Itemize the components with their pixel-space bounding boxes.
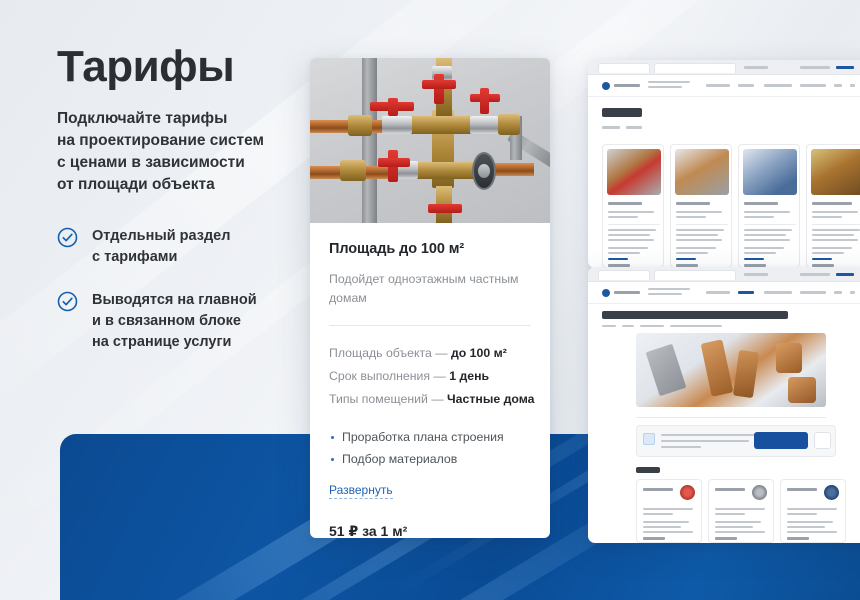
site-header [588, 282, 860, 304]
card-spec [744, 234, 786, 236]
spec-dash: — [431, 392, 443, 406]
card-desc [812, 216, 842, 218]
nav-item[interactable] [706, 291, 730, 294]
card-title [643, 488, 673, 491]
divider [812, 224, 860, 225]
card-image [607, 149, 661, 195]
card-bullet [608, 247, 648, 249]
tariff-card-body: Площадь до 100 м² Подойдет одноэтажным ч… [310, 223, 550, 538]
slide-canvas: Тарифы Подключайте тарифы на проектирова… [0, 0, 860, 600]
document-icon [643, 433, 655, 445]
mockup-tariff-card[interactable] [738, 144, 800, 268]
spec-row: Площадь объекта — до 100 м² [329, 342, 531, 365]
tariffs-section-title [636, 467, 660, 473]
order-text [661, 434, 757, 436]
card-spec [676, 239, 722, 241]
site-logo-icon[interactable] [602, 82, 610, 90]
feature-line: и в связанном блоке [92, 311, 257, 332]
card-desc [715, 508, 765, 510]
card-spec [744, 229, 792, 231]
tariff-card-description: Подойдет одноэтажным частным домам [329, 270, 531, 308]
breadcrumb[interactable] [602, 126, 620, 129]
spec-label: Типы помещений [329, 392, 428, 406]
tariff-price: 51 ₽ за 1 м² [329, 523, 531, 538]
spec-dash: — [434, 369, 446, 383]
card-spec [812, 229, 860, 231]
card-bullet [676, 252, 708, 254]
site-tagline [648, 293, 682, 295]
card-title [715, 488, 745, 491]
card-title [787, 488, 817, 491]
card-image [675, 149, 729, 195]
feature-line: Выводятся на главной [92, 290, 257, 311]
site-tagline [648, 288, 690, 290]
site-logo-text [614, 84, 640, 87]
subtitle-line: с ценами в зависимости [57, 152, 307, 174]
card-expand-link[interactable] [812, 258, 832, 260]
feature-item: Выводятся на главной и в связанном блоке… [57, 290, 307, 353]
expand-link[interactable]: Развернуть [329, 483, 393, 499]
divider [676, 224, 728, 225]
breadcrumb[interactable] [602, 325, 616, 327]
spec-label: Площадь объекта [329, 346, 432, 360]
nav-item-active[interactable] [738, 291, 754, 294]
card-spec [608, 239, 654, 241]
mockup-page-title [602, 311, 788, 319]
favorite-button[interactable] [814, 432, 831, 449]
tariff-card-photo [310, 58, 550, 223]
feature-item: Отдельный раздел с тарифами [57, 226, 307, 268]
card-bullet [715, 526, 753, 528]
card-desc [744, 216, 774, 218]
card-bullet [676, 247, 716, 249]
nav-item[interactable] [738, 84, 754, 87]
card-bullet [643, 531, 693, 533]
list-item: Подбор материалов [329, 449, 531, 471]
browser-tab[interactable] [598, 270, 650, 280]
browser-tab-bar [588, 267, 860, 282]
card-spec [676, 229, 724, 231]
tariff-specs: Площадь объекта — до 100 м² Срок выполне… [329, 342, 531, 410]
browser-action[interactable] [836, 66, 854, 69]
spec-row: Срок выполнения — 1 день [329, 365, 531, 388]
mockup-service-page[interactable] [588, 267, 860, 543]
check-circle-icon [57, 291, 78, 317]
nav-item[interactable] [764, 291, 792, 294]
card-spec [812, 234, 854, 236]
feature-line: Отдельный раздел [92, 226, 230, 247]
site-header [588, 75, 860, 97]
mockup-tariff-card[interactable] [806, 144, 860, 268]
check-circle-icon [57, 227, 78, 253]
nav-item[interactable] [800, 291, 826, 294]
mockup-tariff-card[interactable] [636, 479, 702, 543]
mockup-tariff-card[interactable] [708, 479, 774, 543]
address-bar [800, 66, 830, 69]
card-bullet [744, 252, 776, 254]
browser-controls [744, 273, 768, 276]
subtitle-line: от площади объекта [57, 174, 307, 196]
card-bullet [643, 526, 681, 528]
card-desc [787, 513, 817, 515]
divider [329, 325, 531, 326]
spec-value: 1 день [449, 369, 489, 383]
nav-item[interactable] [764, 84, 792, 87]
card-desc [787, 508, 837, 510]
card-bullet [787, 526, 825, 528]
mockup-tariff-card[interactable] [602, 144, 664, 268]
page-title: Тарифы [57, 44, 307, 90]
browser-tab[interactable] [654, 270, 736, 280]
search-icon[interactable] [850, 291, 855, 294]
divider [608, 224, 660, 225]
mockup-tariffs-catalog[interactable] [588, 60, 860, 268]
card-spec [812, 239, 858, 241]
card-title [744, 202, 778, 205]
card-price [715, 537, 737, 540]
browser-controls [744, 66, 768, 69]
site-logo-text [614, 291, 640, 294]
card-bullet [608, 252, 640, 254]
spec-dash: — [435, 346, 447, 360]
card-desc [608, 216, 638, 218]
card-bullet [812, 247, 852, 249]
card-spec [608, 229, 656, 231]
card-bullet [744, 247, 784, 249]
tariff-card[interactable]: Площадь до 100 м² Подойдет одноэтажным ч… [310, 58, 550, 538]
nav-item[interactable] [800, 84, 826, 87]
intro-column: Тарифы Подключайте тарифы на проектирова… [57, 44, 307, 375]
card-expand-link[interactable] [608, 258, 628, 260]
browser-action[interactable] [836, 273, 854, 276]
mockup-tariff-card[interactable] [670, 144, 732, 268]
card-bullet [787, 521, 833, 523]
mockup-tariff-card[interactable] [780, 479, 846, 543]
feature-list: Отдельный раздел с тарифами Выводятся на… [57, 226, 307, 353]
search-icon[interactable] [850, 84, 855, 87]
card-desc [744, 211, 790, 213]
nav-more[interactable] [834, 84, 842, 87]
card-expand-link[interactable] [676, 258, 696, 260]
subtitle-line: Подключайте тарифы [57, 108, 307, 130]
card-desc [608, 211, 654, 213]
divider [636, 417, 826, 418]
nav-more[interactable] [834, 291, 842, 294]
address-bar [800, 273, 830, 276]
card-title [812, 202, 852, 205]
card-expand-link[interactable] [744, 258, 764, 260]
card-price [787, 537, 809, 540]
card-bullet [812, 252, 844, 254]
card-bullet [787, 531, 837, 533]
browser-tab[interactable] [654, 63, 736, 73]
card-desc [676, 216, 706, 218]
browser-tab[interactable] [598, 63, 650, 73]
card-bullet [715, 531, 765, 533]
card-badge-icon [752, 485, 767, 500]
card-desc [812, 211, 858, 213]
nav-item[interactable] [706, 84, 730, 87]
card-spec [608, 234, 650, 236]
card-spec [744, 239, 790, 241]
card-desc [715, 513, 745, 515]
order-text [661, 440, 749, 442]
feature-text: Выводятся на главной и в связанном блоке… [92, 290, 257, 353]
order-text [661, 446, 701, 448]
card-desc [643, 508, 693, 510]
add-to-cart-button[interactable] [754, 432, 808, 449]
site-tagline [648, 86, 682, 88]
spec-value: до 100 м² [451, 346, 507, 360]
card-bullet [643, 521, 689, 523]
card-desc [676, 211, 722, 213]
feature-line: на странице услуги [92, 332, 257, 353]
list-item: Проработка плана строения [329, 427, 531, 449]
browser-tab-bar [588, 60, 860, 75]
card-badge-icon [680, 485, 695, 500]
card-title [608, 202, 642, 205]
card-spec [676, 234, 718, 236]
spec-value: Частные дома [447, 392, 534, 406]
site-tagline [648, 81, 690, 83]
card-title [676, 202, 710, 205]
card-price [643, 537, 665, 540]
breadcrumb[interactable] [640, 325, 664, 327]
divider [744, 224, 796, 225]
tariff-card-title: Площадь до 100 м² [329, 241, 531, 257]
card-badge-icon [824, 485, 839, 500]
breadcrumb [670, 325, 722, 327]
feature-text: Отдельный раздел с тарифами [92, 226, 230, 268]
card-image [811, 149, 860, 195]
spec-label: Срок выполнения [329, 369, 430, 383]
mockup-page-title [602, 108, 642, 117]
tariff-feature-list: Проработка плана строения Подбор материа… [329, 427, 531, 470]
hero-image [636, 333, 826, 407]
breadcrumb[interactable] [622, 325, 634, 327]
spec-row: Типы помещений — Частные дома [329, 388, 531, 411]
page-subtitle: Подключайте тарифы на проектирование сис… [57, 108, 307, 196]
feature-line: с тарифами [92, 247, 230, 268]
card-desc [643, 513, 673, 515]
subtitle-line: на проектирование систем [57, 130, 307, 152]
site-logo-icon[interactable] [602, 289, 610, 297]
breadcrumb[interactable] [626, 126, 642, 129]
card-image [743, 149, 797, 195]
card-bullet [715, 521, 761, 523]
